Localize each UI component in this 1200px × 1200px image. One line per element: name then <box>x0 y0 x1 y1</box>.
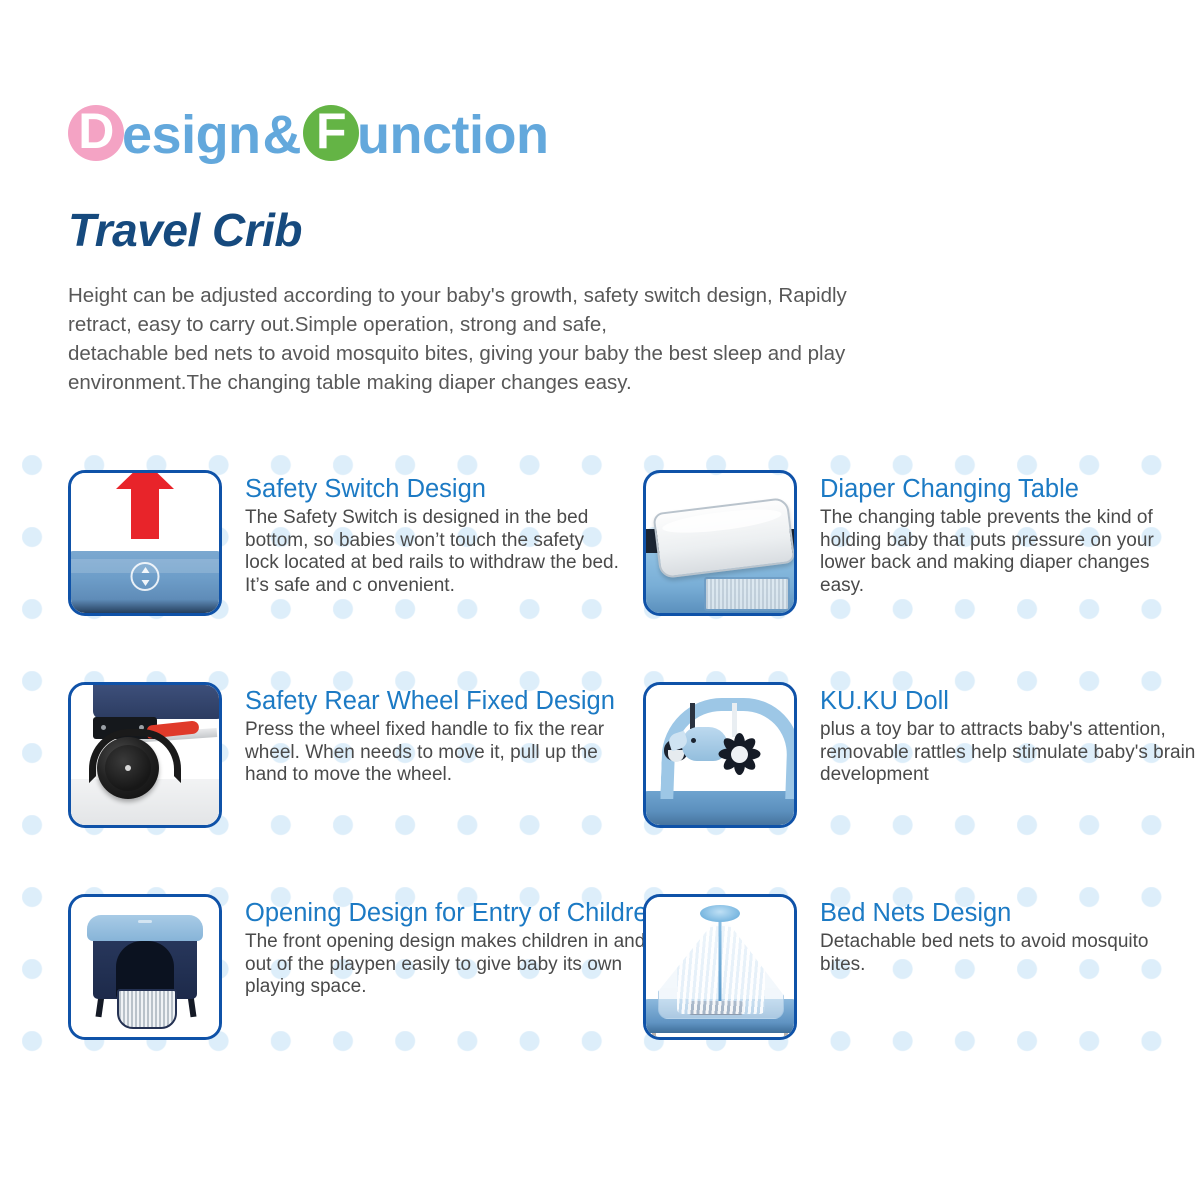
feature-title: KU.KU Doll <box>820 687 1198 715</box>
intro-paragraph: Height can be adjusted according to your… <box>68 281 1126 397</box>
feature-description: The Safety Switch is designed in the bed… <box>245 507 623 597</box>
feature-title: Diaper Changing Table <box>820 475 1198 503</box>
function-word: unction <box>357 104 548 166</box>
feature-description: The changing table prevents the kind of … <box>820 507 1198 597</box>
feature-text: Bed Nets Design Detachable bed nets to a… <box>797 894 1198 976</box>
feature-title: Safety Rear Wheel Fixed Design <box>245 687 623 715</box>
rear-wheel-photo-frame <box>68 682 222 828</box>
bracket-bolt-icon <box>101 725 106 730</box>
playpen-mesh-panel <box>704 577 790 611</box>
feature-title: Safety Switch Design <box>245 475 623 503</box>
front-opening-playpen-photo <box>71 897 219 1037</box>
diaper-changing-table-photo-frame <box>643 470 797 616</box>
crib-frame-shape <box>93 685 222 719</box>
feature-rear-wheel: Safety Rear Wheel Fixed Design Press the… <box>68 682 623 828</box>
feature-text: Safety Switch Design The Safety Switch i… <box>222 470 623 597</box>
feature-text: KU.KU Doll plus a toy bar to attracts ba… <box>797 682 1198 787</box>
bed-nets-photo-frame <box>643 894 797 1040</box>
toy-strap-shape <box>690 703 695 729</box>
intro-line-4: environment.The changing table making di… <box>68 368 1126 397</box>
feature-description: Press the wheel fixed handle to fix the … <box>245 719 623 787</box>
infographic-page: Design&Function Travel Crib Height can b… <box>0 0 1200 1200</box>
feature-description: Detachable bed nets to avoid mosquito bi… <box>820 931 1198 976</box>
front-opening-playpen-photo-frame <box>68 894 222 1040</box>
feature-bed-nets: Bed Nets Design Detachable bed nets to a… <box>643 894 1198 1040</box>
intro-line-3: detachable bed nets to avoid mosquito bi… <box>68 339 1126 368</box>
feature-safety-switch: Safety Switch Design The Safety Switch i… <box>68 470 623 616</box>
feature-opening-design: Opening Design for Entry of Children The… <box>68 894 623 1040</box>
intro-line-2: retract, easy to carry out.Simple operat… <box>68 310 1126 339</box>
canopy-pole-shape <box>719 915 722 1001</box>
ampersand: & <box>261 104 304 166</box>
safety-switch-photo <box>71 473 219 613</box>
function-initial-letter: F <box>316 106 346 156</box>
intro-line-1: Height can be adjusted according to your… <box>68 281 1126 310</box>
caster-wheel-shape <box>97 737 159 799</box>
feature-description: plus a toy bar to attracts baby's attent… <box>820 719 1198 787</box>
flower-rattle-icon <box>720 735 758 773</box>
design-initial-circle: D <box>68 105 124 161</box>
feature-text: Safety Rear Wheel Fixed Design Press the… <box>222 682 623 787</box>
flower-center <box>731 746 748 763</box>
design-initial-letter: D <box>78 106 114 156</box>
canopy-hoop-shape <box>700 905 740 922</box>
feature-title: Opening Design for Entry of Children <box>245 899 662 927</box>
feature-diaper-changing-table: Diaper Changing Table The changing table… <box>643 470 1198 616</box>
feature-text: Opening Design for Entry of Children The… <box>222 894 662 999</box>
feature-description: The front opening design makes children … <box>245 931 662 999</box>
up-arrow-icon <box>131 487 159 539</box>
safety-switch-photo-frame <box>68 470 222 616</box>
toy-bar-doll-photo-frame <box>643 682 797 828</box>
mesh-flap-shape <box>117 989 177 1029</box>
toy-bar-doll-photo <box>646 685 794 825</box>
brand-heading: Design&Function <box>68 97 549 169</box>
toy-strap-shape <box>732 703 737 737</box>
diaper-changing-table-photo <box>646 473 794 613</box>
page-title: Travel Crib <box>68 203 302 257</box>
playpen-canopy-shape <box>87 915 203 941</box>
feature-kuku-doll: KU.KU Doll plus a toy bar to attracts ba… <box>643 682 1198 828</box>
feature-title: Bed Nets Design <box>820 899 1198 927</box>
bed-nets-photo <box>646 897 794 1037</box>
switch-lock-icon <box>131 562 160 591</box>
feature-text: Diaper Changing Table The changing table… <box>797 470 1198 597</box>
function-initial-circle: F <box>303 105 359 161</box>
rear-wheel-photo <box>71 685 219 825</box>
design-word: esign <box>122 104 261 166</box>
